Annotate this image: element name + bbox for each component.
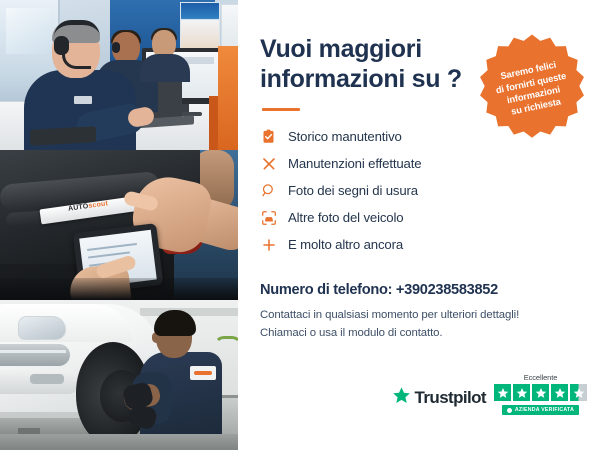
contact-block: Numero di telefono: +390238583852 Contat… (260, 282, 578, 342)
trustpilot-stars (494, 384, 587, 401)
car-fog-light (30, 374, 64, 384)
trustpilot-logo: Trustpilot (392, 386, 486, 415)
trustpilot-star-icon (392, 386, 411, 410)
trustpilot-star-filled (551, 384, 568, 401)
wall-poster-secondary (221, 4, 238, 52)
third-agent-body (140, 54, 190, 82)
mechanic-logo-patch (190, 366, 216, 380)
trustpilot-star-filled (494, 384, 511, 401)
wrench-screwdriver-icon (260, 155, 277, 172)
orange-partition (218, 46, 238, 150)
feature-list: Storico manutentivo Manutenzioni effettu… (260, 123, 500, 258)
magnifier-icon (260, 182, 277, 199)
contact-subtext: Contattaci in qualsiasi momento per ulte… (260, 307, 578, 342)
trustpilot-star-filled (532, 384, 549, 401)
phone-line[interactable]: Numero di telefono: +390238583852 (260, 282, 578, 298)
trustpilot-star-half (570, 384, 587, 401)
air-hose (214, 336, 238, 356)
title-underline-rule (262, 108, 300, 111)
car-grille-bar (0, 350, 66, 353)
feature-label: Foto dei segni di usura (288, 183, 418, 198)
agent-name-badge (74, 96, 92, 104)
feature-label: Storico manutentivo (288, 129, 402, 144)
mechanic-wheel-photo (0, 300, 238, 450)
trustpilot-name: Trustpilot (415, 388, 486, 408)
trustpilot-widget[interactable]: Trustpilot Eccellente (392, 373, 587, 415)
car-headlight (18, 316, 66, 340)
window-pane (6, 8, 50, 54)
clipboard-check-icon (260, 128, 277, 145)
orange-partition-shadow (209, 96, 218, 150)
contact-subtext-line-2: Chiamaci o usa il modulo di contatto. (260, 325, 578, 343)
verified-business-badge: AZIENDA VERIFICATA (502, 405, 579, 415)
trustpilot-rating: Eccellente (494, 373, 587, 415)
background-agent-headset (112, 42, 120, 53)
headset-earcup (54, 36, 69, 55)
photo-column: AUTOscout (0, 0, 238, 450)
feature-label: Altre foto del veicolo (288, 210, 403, 225)
workshop-floor (0, 434, 238, 450)
feature-item-altre-foto-veicolo: Altre foto del veicolo (260, 204, 500, 231)
feature-item-foto-segni-usura: Foto dei segni di usura (260, 177, 500, 204)
contact-subtext-line-1: Contattaci in qualsiasi momento per ulte… (260, 307, 578, 325)
promo-banner: AUTOscout (0, 0, 600, 450)
car-grille (0, 344, 70, 366)
check-circle-icon (507, 408, 512, 413)
verified-label: AZIENDA VERIFICATA (515, 407, 574, 413)
feature-item-storico-manutentivo: Storico manutentivo (260, 123, 500, 150)
feature-label: Manutenzioni effettuate (288, 156, 421, 171)
callout-starburst-badge: Saremo felici di fornirti queste informa… (478, 34, 586, 142)
phone-number[interactable]: +390238583852 (396, 282, 498, 298)
photo-vignette (0, 278, 238, 300)
feature-label: E molto altro ancora (288, 237, 403, 252)
content-panel: Vuoi maggiori informazioni su ? Saremo f… (238, 0, 600, 450)
feature-item-manutenzioni-effettuate: Manutenzioni effettuate (260, 150, 500, 177)
headset-band (54, 20, 100, 37)
starburst-shape (480, 35, 584, 138)
page-title: Vuoi maggiori informazioni su ? (260, 34, 465, 94)
trustpilot-rating-label: Eccellente (524, 373, 558, 382)
car-scan-icon (260, 209, 277, 226)
plus-icon (260, 236, 277, 253)
trustpilot-star-filled (513, 384, 530, 401)
call-center-agent-photo (0, 0, 238, 150)
vehicle-inspection-photo: AUTOscout (0, 150, 238, 300)
phone-label: Numero di telefono: (260, 282, 392, 298)
feature-item-molto-altro: E molto altro ancora (260, 231, 500, 258)
